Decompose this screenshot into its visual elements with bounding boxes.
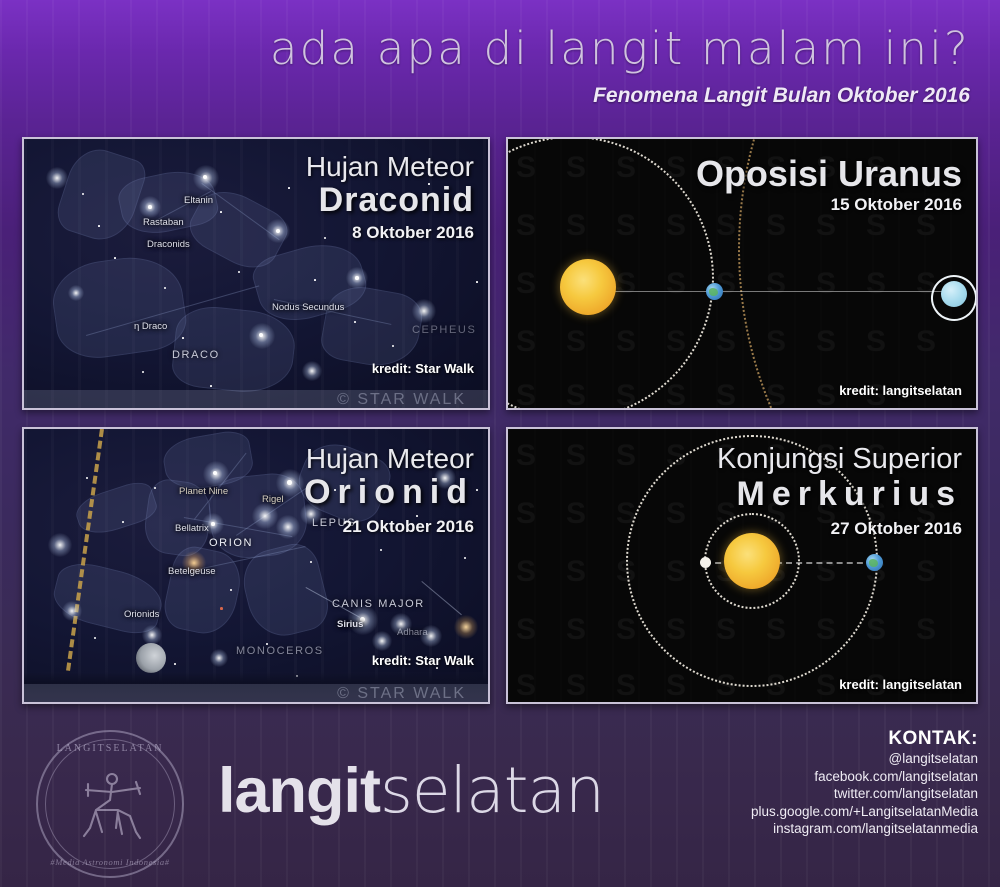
star-label: η Draco — [134, 321, 167, 332]
constellation-label: MONOCEROS — [236, 645, 324, 657]
contact-facebook[interactable]: facebook.com/langitselatan — [751, 768, 978, 786]
earth-icon — [706, 283, 723, 300]
contact-twitter[interactable]: twitter.com/langitselatan — [751, 785, 978, 803]
star-label: Sirius — [337, 619, 363, 630]
constellation-label: CANIS MAJOR — [332, 598, 425, 610]
panel-credit: kredit: langitselatan — [839, 383, 962, 398]
panel-draconid[interactable]: Eltanin Rastaban Draconids Nodus Secundu… — [22, 137, 490, 410]
panel-credit: kredit: Star Walk — [372, 653, 474, 668]
panel-title-line2: Draconid — [319, 181, 474, 220]
langitselatan-logo[interactable]: LANGITSELATAN #Media Astronomi Indonesia… — [36, 730, 184, 878]
sun-icon — [560, 259, 616, 315]
starwalk-watermark: © STAR WALK — [337, 685, 466, 703]
opposition-sightline — [615, 291, 948, 292]
mercury-icon — [700, 557, 711, 568]
panel-title-line2: Orionid — [304, 473, 474, 512]
star-label: Draconids — [147, 239, 190, 250]
brand-wordmark: langitselatan — [218, 754, 604, 827]
panel-date: 27 Oktober 2016 — [831, 519, 962, 539]
starwalk-watermark: © STAR WALK — [337, 391, 466, 409]
logo-top-text: LANGITSELATAN — [38, 743, 182, 754]
moon-icon — [136, 643, 166, 673]
contact-instagram-handle[interactable]: @langitselatan — [751, 750, 978, 768]
contact-instagram[interactable]: instagram.com/langitselatanmedia — [751, 820, 978, 838]
panel-credit: kredit: Star Walk — [372, 361, 474, 376]
constellation-label: ORION — [209, 537, 253, 549]
wordmark-light: selatan — [380, 754, 604, 827]
panel-title-line1: Konjungsi Superior — [717, 443, 962, 476]
panel-orionid[interactable]: Planet Nine Rigel Bellatrix Betelgeuse O… — [22, 427, 490, 704]
panel-title-line1: Oposisi Uranus — [696, 153, 962, 195]
page-title: ada apa di langit malam ini? — [270, 22, 970, 75]
poster-header: ada apa di langit malam ini? Fenomena La… — [0, 0, 1000, 130]
panel-merkurius[interactable]: SS SS SS SS SS SS SS SS S SS SS SS SS S … — [506, 427, 978, 704]
page-subtitle: Fenomena Langit Bulan Oktober 2016 — [593, 84, 970, 108]
panel-date: 15 Oktober 2016 — [831, 195, 962, 215]
star-label: Betelgeuse — [168, 566, 216, 577]
star-label: Orionids — [124, 609, 159, 620]
panel-uranus[interactable]: SS SS SS SS SS SS SS SS S SS SS SS SS S … — [506, 137, 978, 410]
star-label: Planet Nine — [179, 486, 228, 497]
star-label: Rastaban — [143, 217, 184, 228]
panel-date: 8 Oktober 2016 — [352, 223, 474, 243]
contact-block: KONTAK: @langitselatan facebook.com/lang… — [751, 728, 978, 838]
panel-credit: kredit: langitselatan — [839, 677, 962, 692]
sagittarius-archer-icon — [66, 766, 158, 844]
panel-date: 21 Oktober 2016 — [343, 517, 474, 537]
contact-google-plus[interactable]: plus.google.com/+LangitselatanMedia — [751, 803, 978, 821]
star-label: Nodus Secundus — [272, 302, 344, 313]
constellation-label: CEPHEUS — [412, 324, 476, 336]
star-label: Bellatrix — [175, 523, 209, 534]
logo-bottom-text: #Media Astronomi Indonesia# — [38, 857, 182, 867]
panel-title-line2: Merkurius — [737, 475, 963, 514]
sun-icon — [724, 533, 780, 589]
star-label: Adhara — [397, 627, 428, 638]
wordmark-bold: langit — [218, 756, 380, 826]
earth-icon — [866, 554, 883, 571]
constellation-label: DRACO — [172, 349, 220, 361]
poster-footer: LANGITSELATAN #Media Astronomi Indonesia… — [0, 712, 1000, 887]
star-label: Eltanin — [184, 195, 213, 206]
contact-heading: KONTAK: — [751, 728, 978, 750]
panel-title-line1: Hujan Meteor — [306, 443, 474, 475]
panel-title-line1: Hujan Meteor — [306, 151, 474, 183]
star-label: Rigel — [262, 494, 284, 505]
